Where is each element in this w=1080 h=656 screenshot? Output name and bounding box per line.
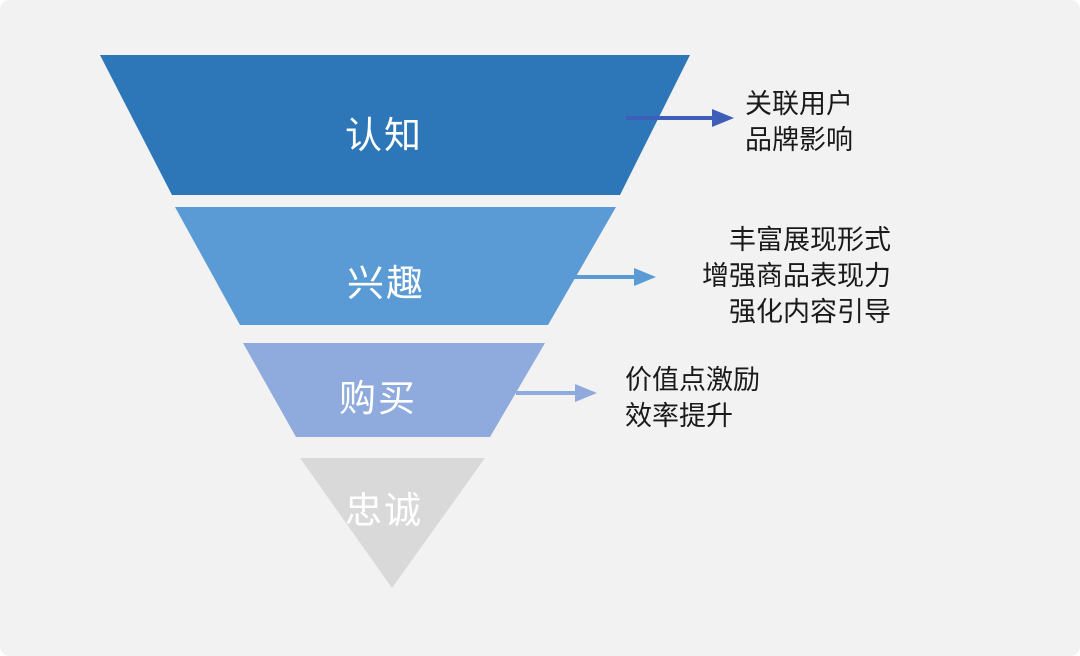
annotation-line: 关联用户 [745, 86, 853, 122]
funnel-label-awareness: 认知 [345, 105, 423, 159]
annotation-arrow-purchase [516, 384, 597, 402]
funnel-diagram-canvas: 认知 兴趣 购买 忠诚 关联用户 品牌影响 丰富展现形式 增强商品表现力 强化内… [0, 0, 1080, 656]
funnel-label-interest: 兴趣 [347, 253, 425, 307]
arrow-head-awareness [712, 109, 734, 127]
annotation-line: 增强商品表现力 [611, 258, 891, 294]
arrow-head-purchase [575, 384, 597, 402]
annotation-line: 丰富展现形式 [611, 222, 891, 258]
annotation-line: 品牌影响 [745, 122, 853, 158]
funnel-label-purchase: 购买 [339, 368, 417, 422]
annotation-text-interest: 丰富展现形式 增强商品表现力 强化内容引导 [611, 222, 891, 330]
annotation-text-awareness: 关联用户 品牌影响 [745, 86, 853, 158]
annotation-text-purchase: 价值点激励 效率提升 [625, 362, 760, 434]
funnel-shapes [0, 0, 1080, 656]
annotation-line: 效率提升 [625, 398, 760, 434]
annotation-line: 强化内容引导 [611, 294, 891, 330]
annotation-line: 价值点激励 [625, 362, 760, 398]
funnel-label-loyalty: 忠诚 [345, 480, 423, 534]
